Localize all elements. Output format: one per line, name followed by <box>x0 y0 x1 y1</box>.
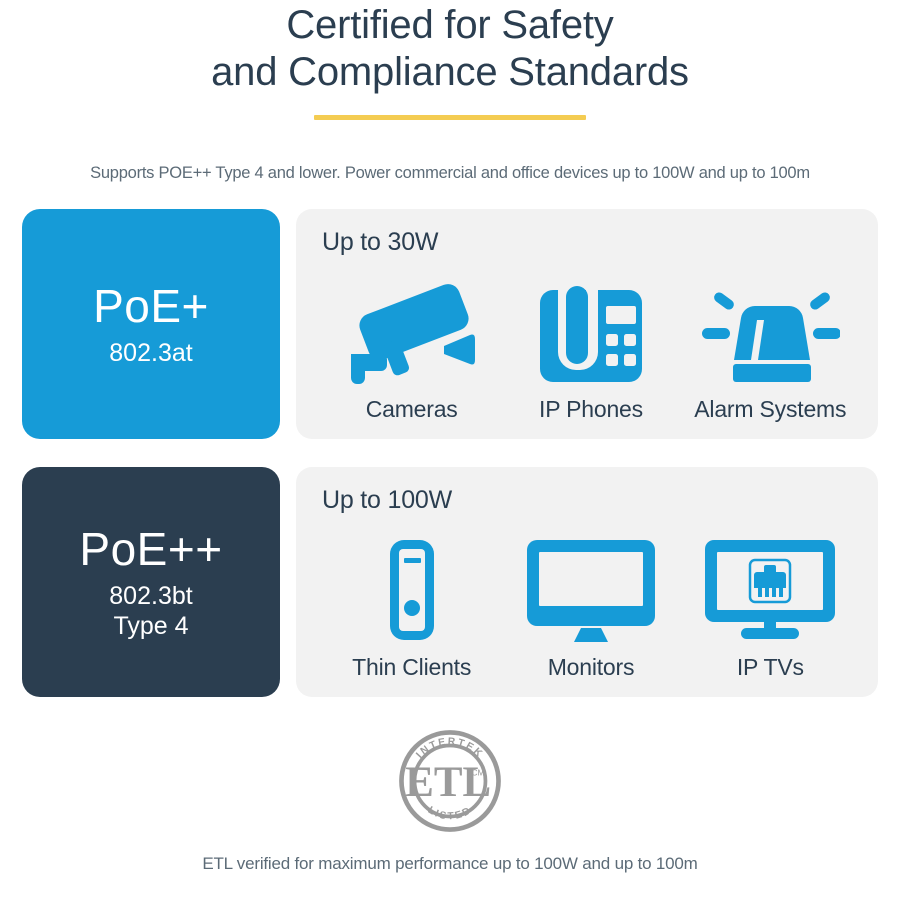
poe-plus-plus-power-heading: Up to 100W <box>322 485 860 515</box>
logo-center-text: ETL <box>405 759 491 806</box>
poe-plus-plus-device-list: Thin Clients Monitors <box>322 515 860 685</box>
monitor-icon <box>525 532 657 642</box>
poe-plus-badge: PoE+ 802.3at <box>22 209 280 439</box>
page-title-line-2: and Compliance Standards <box>0 49 900 96</box>
poe-tier-row: PoE+ 802.3at Up to 30W <box>22 209 878 439</box>
poe-tier-row: PoE++ 802.3bt Type 4 Up to 100W Thin Cli… <box>22 467 878 697</box>
logo-superscript-text: CM <box>471 767 484 777</box>
device-item-ip-phones: IP Phones <box>502 274 680 423</box>
device-label-alarm-systems: Alarm Systems <box>694 396 846 423</box>
security-camera-icon <box>347 274 477 384</box>
device-item-monitors: Monitors <box>502 532 680 681</box>
logo-bottom-arc-text: LISTED <box>426 805 475 823</box>
device-label-monitors: Monitors <box>548 654 635 681</box>
etl-listed-intertek-logo: INTERTEK LISTED ETL CM <box>394 725 506 837</box>
thin-client-icon <box>377 532 447 642</box>
poe-plus-plus-badge-title: PoE++ <box>79 523 222 575</box>
device-label-thin-clients: Thin Clients <box>352 654 471 681</box>
poe-plus-badge-title: PoE+ <box>93 280 209 332</box>
etl-footer-note: ETL verified for maximum performance up … <box>0 853 900 874</box>
device-label-ip-phones: IP Phones <box>539 396 643 423</box>
poe-plus-badge-standard: 802.3at <box>109 338 192 368</box>
device-item-ip-tvs: IP TVs <box>682 532 860 681</box>
device-label-cameras: Cameras <box>366 396 458 423</box>
page-title-line-1: Certified for Safety <box>0 2 900 49</box>
device-item-alarm-systems: Alarm Systems <box>682 274 860 423</box>
poe-plus-plus-badge-standard: 802.3bt Type 4 <box>109 581 192 641</box>
page-footer: INTERTEK LISTED ETL CM ETL verified for … <box>0 725 900 874</box>
ip-phone-icon <box>536 274 646 384</box>
page-header: Certified for Safety and Compliance Stan… <box>0 0 900 183</box>
poe-plus-plus-badge: PoE++ 802.3bt Type 4 <box>22 467 280 697</box>
title-underline-accent <box>314 115 586 120</box>
ip-tv-icon <box>703 532 837 642</box>
device-label-ip-tvs: IP TVs <box>737 654 804 681</box>
poe-plus-devices-panel: Up to 30W <box>296 209 878 439</box>
device-item-cameras: Cameras <box>323 274 501 423</box>
alarm-siren-icon <box>700 274 840 384</box>
poe-plus-plus-devices-panel: Up to 100W Thin Clients <box>296 467 878 697</box>
poe-plus-device-list: Cameras <box>322 257 860 427</box>
poe-plus-power-heading: Up to 30W <box>322 227 860 257</box>
device-item-thin-clients: Thin Clients <box>323 532 501 681</box>
poe-tiers-container: PoE+ 802.3at Up to 30W <box>0 209 900 697</box>
page-subtitle: Supports POE++ Type 4 and lower. Power c… <box>0 163 900 183</box>
